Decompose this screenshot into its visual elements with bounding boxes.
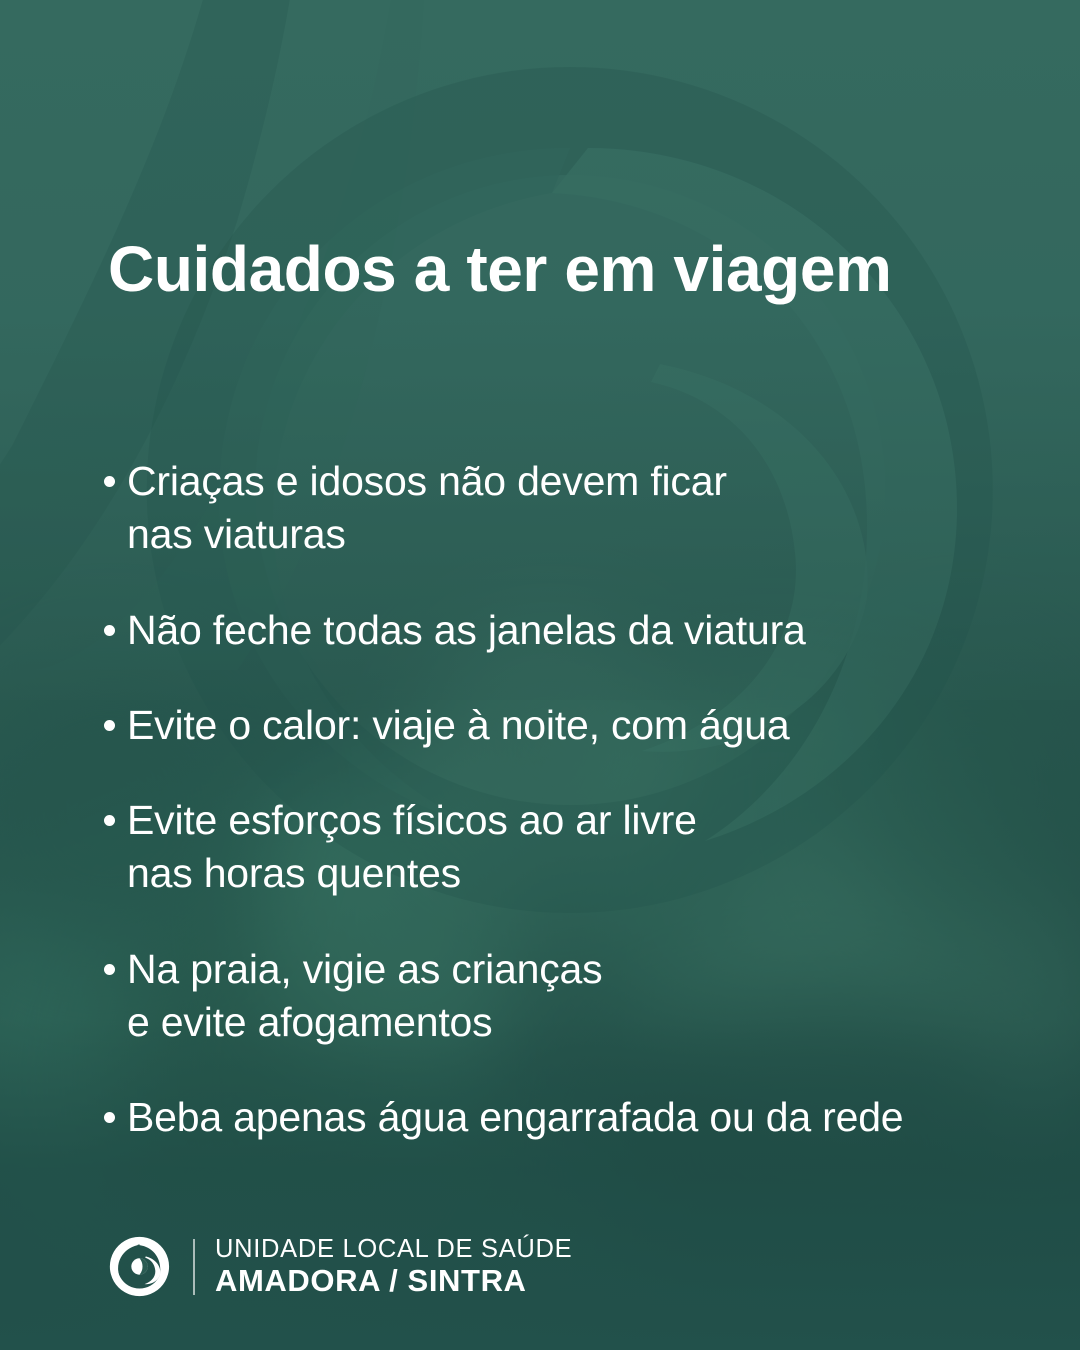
footer-logo: UNIDADE LOCAL DE SAÚDE AMADORA / SINTRA	[108, 1235, 572, 1298]
page-title: Cuidados a ter em viagem	[108, 236, 892, 303]
list-item: Beba apenas água engarrafada ou da rede	[104, 1091, 1004, 1144]
list-item-label: Não feche todas as janelas da viatura	[127, 604, 806, 657]
bullet-dot-icon	[104, 1112, 115, 1123]
logo-line-2: AMADORA / SINTRA	[215, 1264, 572, 1297]
list-item-label: Criaças e idosos não devem ficar nas via…	[127, 455, 727, 562]
list-item-label: Evite esforços físicos ao ar livre nas h…	[127, 794, 697, 901]
logo-wordmark: UNIDADE LOCAL DE SAÚDE AMADORA / SINTRA	[215, 1236, 572, 1298]
list-item-label: Na praia, vigie as crianças e evite afog…	[127, 943, 602, 1050]
logo-line-1: UNIDADE LOCAL DE SAÚDE	[215, 1236, 572, 1264]
uls-swirl-logo-icon	[108, 1235, 171, 1298]
bullet-dot-icon	[104, 964, 115, 975]
bullet-dot-icon	[104, 720, 115, 731]
logo-divider	[193, 1239, 195, 1295]
bullet-dot-icon	[104, 815, 115, 826]
poster-canvas: Cuidados a ter em viagem Criaças e idoso…	[0, 0, 1080, 1350]
tips-list: Criaças e idosos não devem ficar nas via…	[104, 455, 1004, 1145]
bullet-dot-icon	[104, 476, 115, 487]
list-item-label: Evite o calor: viaje à noite, com água	[127, 699, 789, 752]
list-item: Evite esforços físicos ao ar livre nas h…	[104, 794, 1004, 901]
list-item-label: Beba apenas água engarrafada ou da rede	[127, 1091, 903, 1144]
poster-content: Cuidados a ter em viagem Criaças e idoso…	[0, 0, 1080, 1350]
list-item: Criaças e idosos não devem ficar nas via…	[104, 455, 1004, 562]
list-item: Não feche todas as janelas da viatura	[104, 604, 1004, 657]
bullet-dot-icon	[104, 625, 115, 636]
list-item: Na praia, vigie as crianças e evite afog…	[104, 943, 1004, 1050]
list-item: Evite o calor: viaje à noite, com água	[104, 699, 1004, 752]
